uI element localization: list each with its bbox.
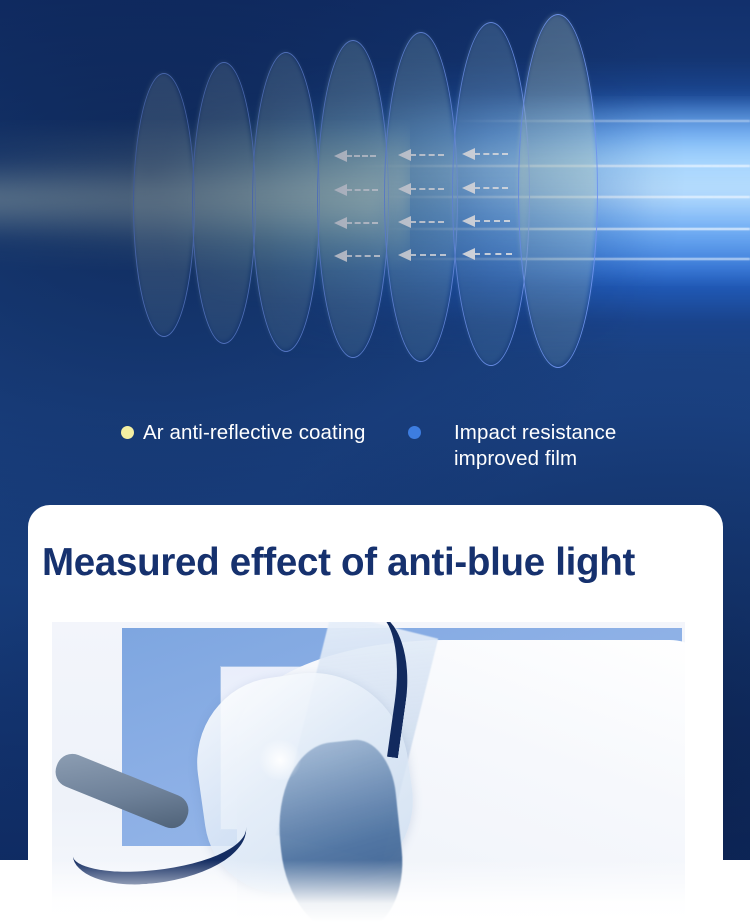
lens-ellipse-4 (317, 40, 389, 358)
legend-item-impact-film: Impact resistance improved film (408, 420, 616, 472)
legend-dot-blue-icon (408, 426, 421, 439)
legend: Ar anti-reflective coating Impact resist… (0, 404, 750, 484)
page-title: Measured effect of anti-blue light (42, 541, 722, 585)
legend-label: Ar anti-reflective coating (143, 420, 366, 446)
legend-label: Impact resistance improved film (454, 420, 616, 472)
photo-bottom-fade (52, 860, 685, 922)
product-detail-page: Ar anti-reflective coating Impact resist… (0, 0, 750, 922)
measured-effect-photo (52, 622, 685, 922)
lens-ellipse-1 (133, 73, 195, 337)
measured-effect-card: Measured effect of anti-blue light (28, 505, 723, 922)
lens-ellipse-5 (384, 32, 458, 362)
legend-dot-yellow-icon (121, 426, 134, 439)
lens-ellipse-7 (518, 14, 598, 368)
legend-item-ar-coating: Ar anti-reflective coating (121, 420, 366, 446)
lens-specular-highlight (257, 740, 303, 780)
lens-ellipse-3 (252, 52, 320, 352)
lens-ellipse-2 (192, 62, 256, 344)
